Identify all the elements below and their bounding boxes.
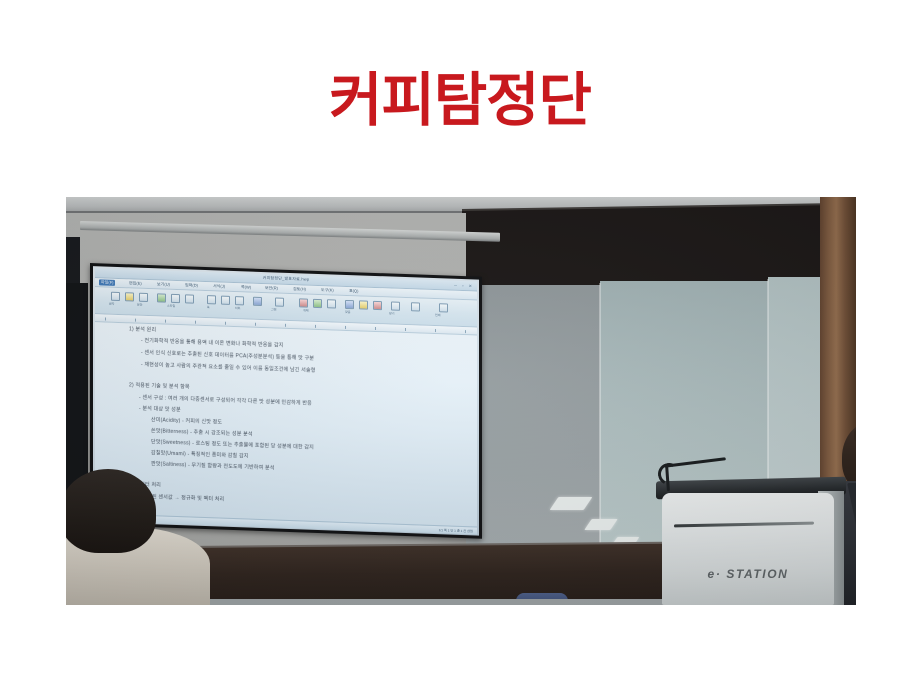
redo-icon[interactable]	[185, 294, 194, 303]
audience-head	[66, 469, 156, 553]
menu-item-6[interactable]: 보안(R)	[265, 285, 278, 291]
toolbar-label-8: 찾기	[389, 311, 395, 315]
doc-line-8: 쓴맛(Bitterness) - 추출 시 강조되는 성분 분석	[151, 427, 253, 438]
doc-line-7: 산미(Acidity) - 커피의 신맛 정도	[151, 416, 222, 425]
shape-rect-icon[interactable]	[207, 295, 216, 304]
toolbar-label-4: 차트	[235, 306, 241, 310]
align-icon[interactable]	[359, 300, 368, 309]
table-icon[interactable]	[253, 297, 262, 306]
print-icon[interactable]	[439, 303, 448, 312]
doc-line-9: 단맛(Sweetness) - 로스팅 정도 또는 추출물에 포함된 당 성분에…	[151, 438, 314, 451]
shape-ellipse-icon[interactable]	[235, 296, 244, 305]
toolbar-label-9: 인쇄	[435, 313, 441, 317]
shape-round-icon[interactable]	[221, 296, 230, 305]
object-icon[interactable]	[345, 300, 354, 309]
e-logo-icon: e·	[708, 567, 722, 581]
chart-icon[interactable]	[299, 298, 308, 307]
window-controls[interactable]: ─ ▫ ✕	[454, 283, 474, 289]
doc-line-4: 2) 적용된 기술 및 분석 항목	[129, 381, 190, 390]
doc-line-1: - 전기화학적 반응을 통해 용액 내 이온 변화나 화학적 반응을 감지	[141, 337, 284, 349]
app-window-title: 커피탐정단_발표자료.hwp	[263, 275, 310, 283]
slide-canvas: 커피탐정단 커피탐정단_발표자료.hwp ─	[0, 0, 920, 690]
doc-line-11: 짠맛(Saltiness) - 무기질 함량과 전도도에 기반하여 분석	[151, 460, 275, 471]
image-icon[interactable]	[313, 299, 322, 308]
menu-item-1[interactable]: 편집(E)	[129, 280, 142, 286]
zoom-icon[interactable]	[411, 302, 420, 311]
toolbar-label-2: 스타일	[167, 304, 175, 308]
menu-item-5[interactable]: 쪽(W)	[241, 284, 251, 290]
find-icon[interactable]	[391, 302, 400, 311]
copy-icon[interactable]	[139, 293, 148, 302]
podium-brand: e· STATION	[662, 567, 834, 581]
doc-line-10: 감칠맛(Umami) - 특징적인 풍미와 감칠 감지	[151, 449, 249, 459]
pen-icon[interactable]	[111, 292, 120, 301]
wall-panel-left	[462, 285, 602, 585]
presentation-photo: 커피탐정단_발표자료.hwp ─ ▫ ✕ 파일(F) 편집(E) 보기(U) 입…	[66, 197, 856, 605]
menu-item-3[interactable]: 입력(D)	[185, 282, 198, 288]
menu-item-4[interactable]: 서식(J)	[213, 283, 225, 289]
toolbar-label-5: 그림	[271, 307, 277, 311]
highlight-icon[interactable]	[125, 292, 134, 301]
toolbar-label-3: 표	[207, 305, 210, 309]
page-title: 커피탐정단	[0, 68, 920, 132]
toolbar-label-0: 글자	[109, 302, 115, 306]
doc-line-2: - 센서 인식 신호로는 추출된 신호 데이터를 PCA(주성분분석) 등을 통…	[141, 349, 314, 362]
podium-brand-text: STATION	[726, 567, 788, 581]
link-icon[interactable]	[327, 299, 336, 308]
toolbar-label-1: 문단	[137, 303, 143, 307]
paste-icon[interactable]	[157, 293, 166, 302]
color-icon[interactable]	[373, 301, 382, 310]
toolbar-label-7: 맞춤	[345, 310, 351, 314]
doc-line-3: - 재현성이 높고 사람의 주관적 요소를 줄일 수 있어 이를 동일조건에 남…	[141, 361, 316, 374]
menu-item-8[interactable]: 도구(K)	[321, 287, 334, 293]
toolbar-label-6: 개체	[303, 308, 309, 312]
menu-item-7[interactable]: 검토(H)	[293, 286, 306, 292]
menu-item-9[interactable]: 표(Q)	[349, 288, 358, 294]
undo-icon[interactable]	[171, 294, 180, 303]
panel-seam-1	[599, 283, 601, 585]
status-text: 1/1 쪽 1 단 1 줄 1 칸 삽입	[439, 527, 473, 533]
menu-item-2[interactable]: 보기(U)	[157, 281, 170, 287]
doc-line-6: - 분석 대상 맛 성분	[139, 405, 181, 413]
menu-item-0[interactable]: 파일(F)	[99, 279, 115, 286]
podium-front	[662, 493, 834, 605]
formula-icon[interactable]	[275, 297, 284, 306]
doc-line-0: 1) 분석 원리	[129, 325, 156, 333]
